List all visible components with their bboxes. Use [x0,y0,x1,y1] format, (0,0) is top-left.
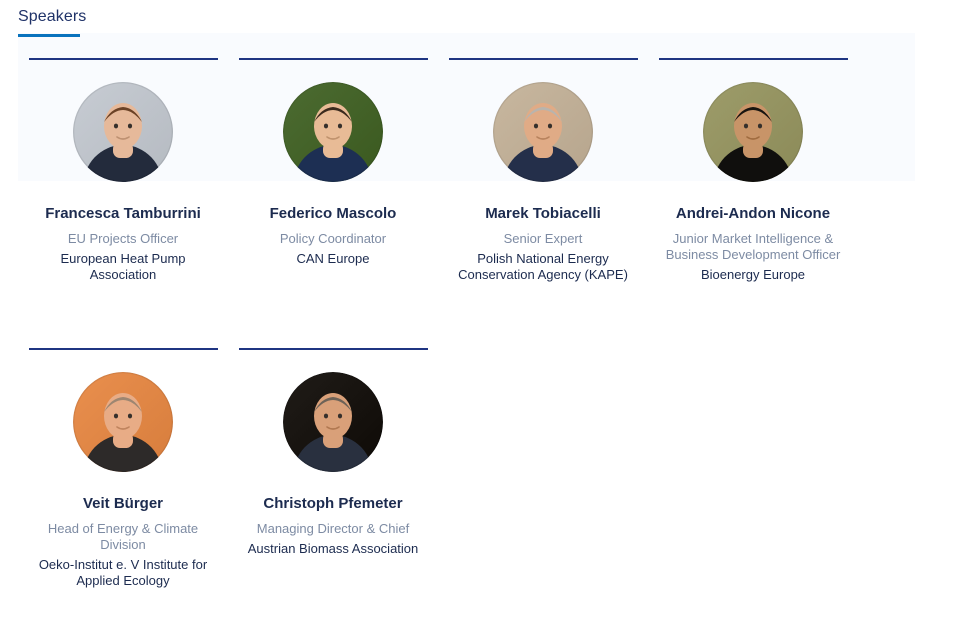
card-top-rule [449,58,638,60]
speaker-details: Andrei-Andon NiconeJunior Market Intelli… [657,204,849,283]
speaker-card[interactable]: Francesca TamburriniEU Projects OfficerE… [18,58,228,283]
card-top-rule [29,348,218,350]
speaker-card[interactable]: Federico MascoloPolicy CoordinatorCAN Eu… [228,58,438,283]
speakers-grid-row-1: Francesca TamburriniEU Projects OfficerE… [18,58,948,283]
speaker-card[interactable]: Christoph PfemeterManaging Director & Ch… [228,348,438,589]
speaker-role: Policy Coordinator [237,231,429,247]
card-top-rule [659,58,848,60]
speaker-name: Christoph Pfemeter [237,494,429,513]
speaker-name: Federico Mascolo [237,204,429,223]
speaker-details: Federico MascoloPolicy CoordinatorCAN Eu… [237,204,429,267]
speaker-organisation: European Heat Pump Association [27,251,219,283]
speaker-details: Veit BürgerHead of Energy & Climate Divi… [27,494,219,589]
speaker-organisation: CAN Europe [237,251,429,267]
speaker-organisation: Bioenergy Europe [657,267,849,283]
speaker-name: Marek Tobiacelli [447,204,639,223]
speakers-grid-row-2: Veit BürgerHead of Energy & Climate Divi… [18,348,948,589]
speaker-card[interactable]: Veit BürgerHead of Energy & Climate Divi… [18,348,228,589]
section-header: Speakers [18,6,418,37]
speaker-organisation: Oeko-Institut e. V Institute for Applied… [27,557,219,589]
speaker-card[interactable]: Andrei-Andon NiconeJunior Market Intelli… [648,58,858,283]
card-top-rule [239,348,428,350]
speaker-organisation: Polish National Energy Conservation Agen… [447,251,639,283]
speaker-details: Christoph PfemeterManaging Director & Ch… [237,494,429,557]
speaker-role: EU Projects Officer [27,231,219,247]
avatar [703,82,803,182]
speaker-role: Junior Market Intelligence & Business De… [657,231,849,263]
speaker-card[interactable]: Marek TobiacelliSenior ExpertPolish Nati… [438,58,648,283]
avatar [493,82,593,182]
speaker-role: Managing Director & Chief [237,521,429,537]
avatar [283,82,383,182]
speaker-name: Francesca Tamburrini [27,204,219,223]
card-top-rule [29,58,218,60]
card-top-rule [239,58,428,60]
avatar [73,82,173,182]
speaker-details: Marek TobiacelliSenior ExpertPolish Nati… [447,204,639,283]
speakers-page: Speakers Francesca TamburriniEU Projects… [0,0,963,633]
speaker-role: Senior Expert [447,231,639,247]
speaker-role: Head of Energy & Climate Division [27,521,219,553]
page-title: Speakers [18,6,418,28]
speaker-name: Andrei-Andon Nicone [657,204,849,223]
speaker-organisation: Austrian Biomass Association [237,541,429,557]
avatar [73,372,173,472]
avatar [283,372,383,472]
speaker-details: Francesca TamburriniEU Projects OfficerE… [27,204,219,283]
speaker-name: Veit Bürger [27,494,219,513]
title-underline [18,34,80,37]
